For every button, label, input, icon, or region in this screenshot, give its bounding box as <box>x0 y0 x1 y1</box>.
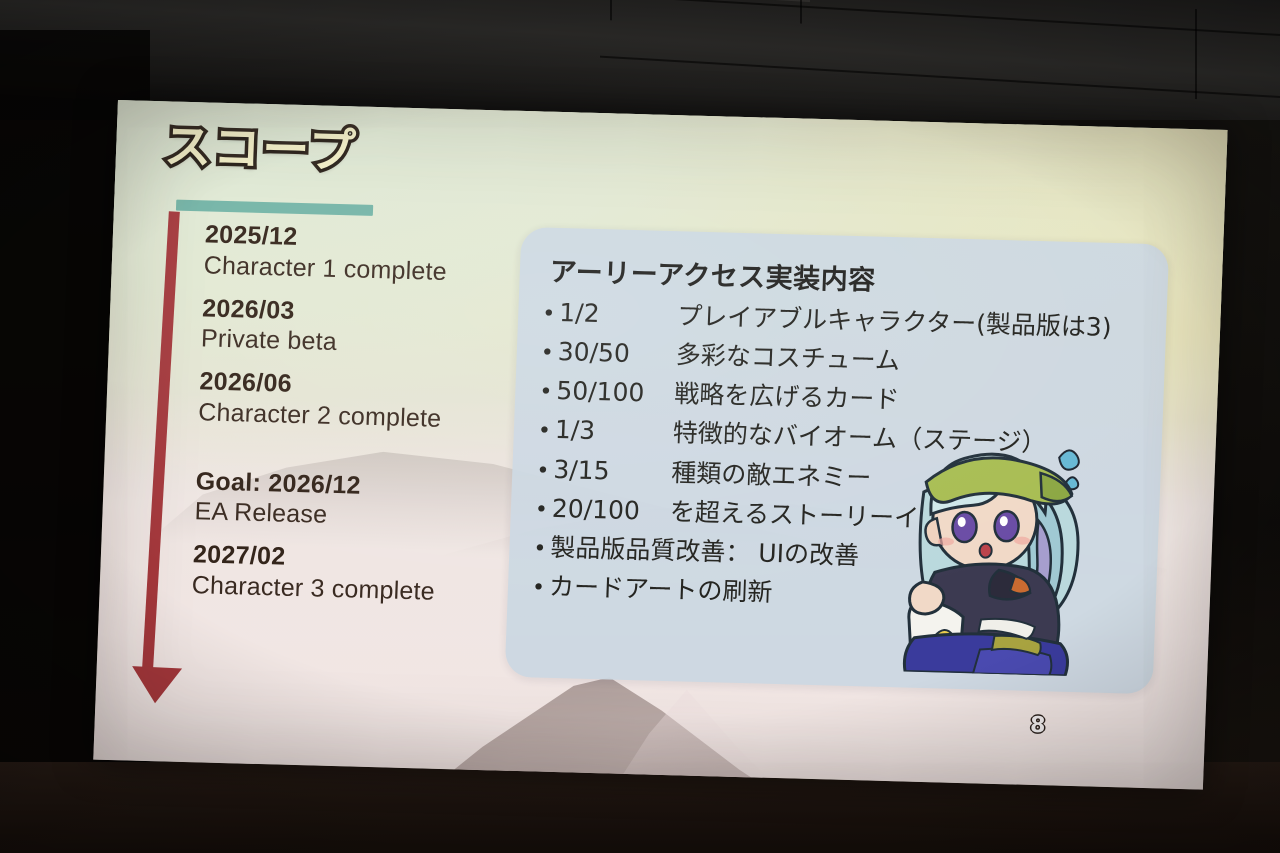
bullet-dot-icon: • <box>531 574 549 603</box>
page-title: スコープ <box>163 123 358 175</box>
bullet-count: 30/50 <box>557 336 676 371</box>
bullet-dot-icon: • <box>537 418 555 447</box>
bullet-count: 3/15 <box>553 454 672 489</box>
ceiling-grid-line <box>610 0 612 20</box>
page-number: 8 <box>1030 713 1046 738</box>
background-rock-highlight <box>602 674 807 789</box>
eye-right <box>994 511 1019 542</box>
ceiling-grid-line <box>800 0 802 24</box>
timeline-arrow-head-icon <box>130 666 182 704</box>
projection-photo: スコープ 2025/12Character 1 complete2026/03P… <box>0 0 1280 853</box>
title-accent-bar <box>176 200 373 216</box>
bullet-count: 1/2 <box>559 297 678 332</box>
bullet-dot-icon: • <box>533 535 551 564</box>
bullet-dot-icon: • <box>542 301 560 330</box>
ceiling-grid-line <box>380 0 1280 36</box>
bullet-text: 種類の敵エネミー <box>671 457 872 494</box>
bullet-count: 20/100 <box>551 493 670 528</box>
bullet-count: 1/3 <box>554 414 673 449</box>
bullet-text: カードアートの刷新 <box>548 571 773 609</box>
bullet-text: 戦略を広げるカード <box>674 378 900 416</box>
eye-left <box>952 512 977 543</box>
bullet-count: 50/100 <box>556 375 675 410</box>
mouth <box>979 543 992 557</box>
chibi-character-illustration <box>883 421 1102 677</box>
bullet-dot-icon: • <box>539 379 557 408</box>
bullet-dot-icon: • <box>534 496 552 525</box>
panel-heading: アーリーアクセス実装内容 <box>549 250 1150 305</box>
hand <box>909 582 944 615</box>
bullet-dot-icon: • <box>536 457 554 486</box>
bullet-dot-icon: • <box>540 340 558 369</box>
bullet-text: プレイアブルキャラクター(製品版は3) <box>677 300 1112 344</box>
bullet-text: 製品版品質改善： UIの改善 <box>550 532 860 572</box>
ceiling-grid-line <box>600 56 1280 98</box>
timeline-arrow-shaft <box>142 211 180 676</box>
bullet-text: 多彩なコスチューム <box>675 339 900 377</box>
ceiling-grid-line <box>1195 9 1197 99</box>
presentation-slide: スコープ 2025/12Character 1 complete2026/03P… <box>93 100 1227 790</box>
